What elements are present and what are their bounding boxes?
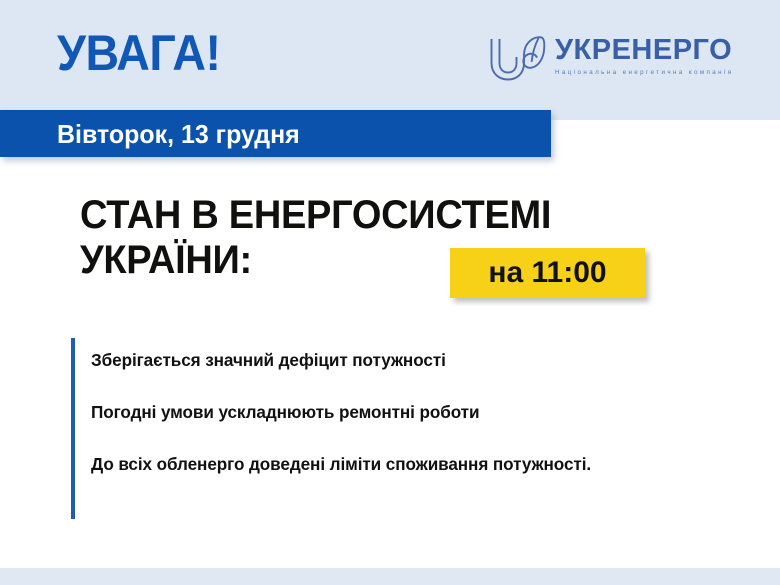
logo-tagline: Національна енергетична компанія bbox=[555, 68, 743, 78]
list-item: Погодні умови ускладнюють ремонтні робот… bbox=[91, 401, 650, 424]
ukrenergo-logo: УКРЕНЕРГО Національна енергетична компан… bbox=[487, 33, 743, 85]
time-badge-label: на 11:00 bbox=[450, 248, 645, 298]
page-title-line-1: СТАН В ЕНЕРГОСИСТЕМІ bbox=[80, 193, 650, 238]
logo-wordmark: УКРЕНЕРГО bbox=[555, 33, 743, 67]
list-item: Зберігається значний дефіцит потужності bbox=[91, 349, 650, 372]
bullet-list-accent-rule bbox=[71, 338, 75, 519]
bottom-strip bbox=[0, 568, 780, 585]
time-badge: на 11:00 bbox=[450, 248, 645, 298]
bullet-list: Зберігається значний дефіцит потужності … bbox=[91, 349, 661, 476]
attention-title: УВАГА! bbox=[57, 28, 220, 78]
date-banner-label: Вівторок, 13 грудня bbox=[57, 120, 300, 148]
logo-text-block: УКРЕНЕРГО Національна енергетична компан… bbox=[555, 33, 743, 78]
ukrenergo-u-leaf-mark-icon bbox=[487, 33, 549, 83]
date-banner: Вівторок, 13 грудня bbox=[0, 110, 551, 157]
list-item: До всіх обленерго доведені ліміти спожив… bbox=[91, 453, 650, 476]
